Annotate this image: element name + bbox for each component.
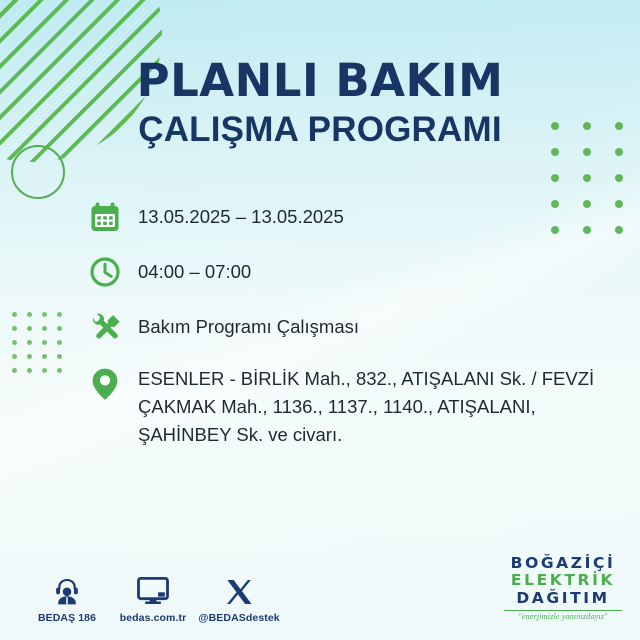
- dot: [57, 354, 62, 359]
- info-list: 13.05.2025 – 13.05.2025 04:00 – 07:00: [86, 198, 606, 465]
- contact-website[interactable]: bedas.com.tr: [110, 572, 196, 624]
- info-row-work-type-text: Bakım Programı Çalışması: [138, 308, 359, 340]
- title-line-1: PLANLI BAKIM: [0, 58, 640, 103]
- dot: [27, 368, 32, 373]
- page-title: PLANLI BAKIM ÇALIŞMA PROGRAMI: [0, 58, 640, 147]
- dot: [42, 368, 47, 373]
- calendar-icon: [86, 198, 124, 236]
- dot: [27, 312, 32, 317]
- dot: [42, 326, 47, 331]
- location-pin-icon: [86, 363, 124, 403]
- title-line-2: ÇALIŞMA PROGRAMI: [0, 112, 640, 147]
- dot: [12, 326, 17, 331]
- green-circle-outline-decoration: [11, 145, 65, 199]
- x-twitter-icon: [196, 572, 282, 606]
- dot-grid-left-decoration: [12, 312, 72, 382]
- brand-line-3: DAĞITIM: [504, 590, 622, 607]
- info-row-location: ESENLER - BİRLİK Mah., 832., ATIŞALANI S…: [86, 363, 606, 448]
- contact-phone[interactable]: BEDAŞ 186: [24, 572, 110, 624]
- dot: [615, 200, 623, 208]
- contact-website-label: bedas.com.tr: [110, 612, 196, 624]
- info-row-date-text: 13.05.2025 – 13.05.2025: [138, 198, 344, 230]
- dot: [27, 326, 32, 331]
- dot: [57, 368, 62, 373]
- contact-phone-label: BEDAŞ 186: [24, 612, 110, 624]
- poster-canvas: PLANLI BAKIM ÇALIŞMA PROGRAMI: [0, 0, 640, 640]
- info-row-location-text: ESENLER - BİRLİK Mah., 832., ATIŞALANI S…: [138, 363, 598, 448]
- brand-divider: [504, 610, 622, 611]
- contact-x-social[interactable]: @BEDASdestek: [196, 572, 282, 624]
- dot: [57, 312, 62, 317]
- brand-logo: BOĞAZİÇİ ELEKTRİK DAĞITIM "enerjimizle y…: [504, 555, 622, 622]
- brand-line-1: BOĞAZİÇİ: [504, 555, 622, 572]
- dot: [42, 354, 47, 359]
- contact-x-social-label: @BEDASdestek: [196, 612, 282, 624]
- dot: [12, 368, 17, 373]
- dot: [27, 340, 32, 345]
- dot: [42, 312, 47, 317]
- info-row-time-text: 04:00 – 07:00: [138, 253, 251, 285]
- dot: [583, 174, 591, 182]
- monitor-icon: [110, 572, 196, 606]
- tools-icon: [86, 308, 124, 346]
- brand-tagline: "enerjimizle yanınızdayız": [504, 613, 622, 622]
- info-row-work-type: Bakım Programı Çalışması: [86, 308, 606, 346]
- dot: [615, 226, 623, 234]
- dot: [12, 312, 17, 317]
- dot: [12, 354, 17, 359]
- dot: [12, 340, 17, 345]
- dot: [27, 354, 32, 359]
- dot: [583, 148, 591, 156]
- headset-support-icon: [24, 572, 110, 606]
- dot: [615, 148, 623, 156]
- clock-icon: [86, 253, 124, 291]
- info-row-time: 04:00 – 07:00: [86, 253, 606, 291]
- dot: [42, 340, 47, 345]
- contact-list: BEDAŞ 186 bedas.com.tr: [24, 572, 282, 624]
- footer: BEDAŞ 186 bedas.com.tr: [0, 548, 640, 640]
- dot: [551, 148, 559, 156]
- dot: [57, 326, 62, 331]
- brand-line-2: ELEKTRİK: [504, 572, 622, 589]
- dot: [551, 174, 559, 182]
- dot: [615, 174, 623, 182]
- dot: [57, 340, 62, 345]
- info-row-date: 13.05.2025 – 13.05.2025: [86, 198, 606, 236]
